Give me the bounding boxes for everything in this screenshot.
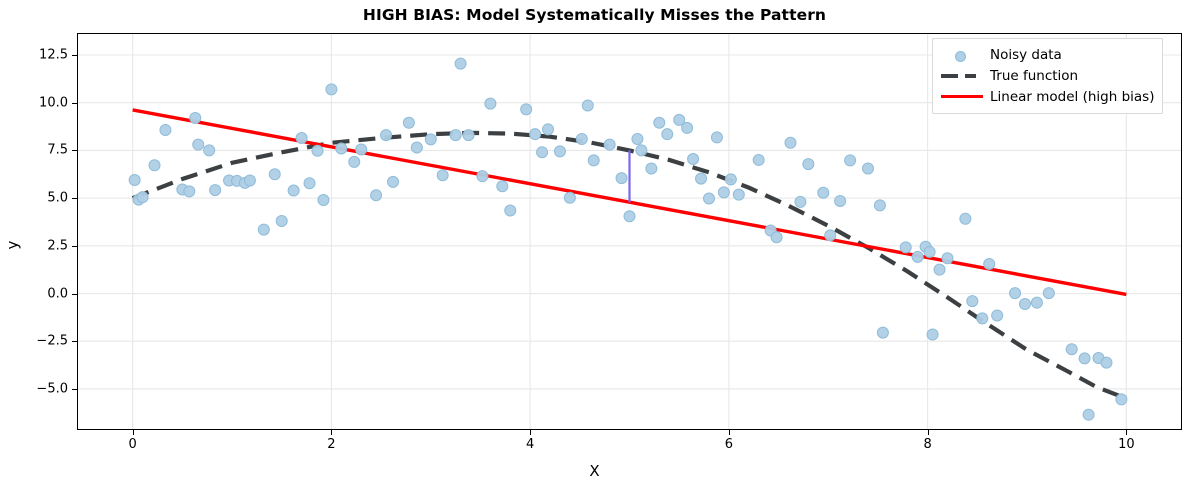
scatter-point bbox=[718, 187, 729, 198]
scatter-point bbox=[129, 174, 140, 185]
x-axis-label: X bbox=[0, 462, 1189, 480]
scatter-point bbox=[1079, 353, 1090, 364]
scatter-point bbox=[1010, 288, 1021, 299]
scatter-point bbox=[616, 173, 627, 184]
y-tick-label: −5.0 bbox=[36, 381, 68, 396]
y-tick-label: 2.5 bbox=[47, 238, 68, 253]
scatter-point bbox=[711, 132, 722, 143]
scatter-point bbox=[505, 205, 516, 216]
scatter-point bbox=[582, 100, 593, 111]
scatter-point bbox=[862, 163, 873, 174]
scatter-point bbox=[632, 133, 643, 144]
scatter-point bbox=[682, 122, 693, 133]
scatter-point bbox=[1116, 394, 1127, 405]
x-tick-mark bbox=[928, 430, 929, 435]
legend-label: Noisy data bbox=[990, 47, 1062, 63]
scatter-point bbox=[874, 200, 885, 211]
x-tick-label: 4 bbox=[526, 437, 534, 452]
scatter-point bbox=[696, 173, 707, 184]
scatter-point bbox=[835, 195, 846, 206]
x-tick-mark bbox=[133, 430, 134, 435]
scatter-point bbox=[326, 84, 337, 95]
scatter-point bbox=[977, 313, 988, 324]
y-tick-label: 10.0 bbox=[39, 95, 68, 110]
y-tick-label: 12.5 bbox=[39, 47, 68, 62]
scatter-point bbox=[733, 189, 744, 200]
scatter-point bbox=[795, 196, 806, 207]
legend-solid-line-icon bbox=[941, 90, 983, 104]
scatter-point bbox=[803, 159, 814, 170]
scatter-point bbox=[288, 185, 299, 196]
scatter-point bbox=[543, 124, 554, 135]
scatter-point bbox=[276, 216, 287, 227]
scatter-point bbox=[825, 230, 836, 241]
x-tick-label: 2 bbox=[327, 437, 335, 452]
legend: Noisy data True function Linear model (h… bbox=[932, 38, 1163, 114]
scatter-point bbox=[371, 190, 382, 201]
scatter-point bbox=[1101, 357, 1112, 368]
scatter-point bbox=[554, 146, 565, 157]
chart-title: HIGH BIAS: Model Systematically Misses t… bbox=[0, 6, 1189, 24]
scatter-point bbox=[450, 130, 461, 141]
scatter-point bbox=[688, 153, 699, 164]
scatter-point bbox=[485, 98, 496, 109]
scatter-point bbox=[425, 134, 436, 145]
scatter-point bbox=[160, 124, 171, 135]
legend-dashed-line-icon bbox=[941, 69, 983, 83]
scatter-point bbox=[296, 132, 307, 143]
legend-item-linear-model[interactable]: Linear model (high bias) bbox=[941, 86, 1154, 107]
figure: HIGH BIAS: Model Systematically Misses t… bbox=[0, 0, 1189, 490]
scatter-point bbox=[497, 181, 508, 192]
scatter-point bbox=[356, 144, 367, 155]
scatter-point bbox=[703, 193, 714, 204]
scatter-point bbox=[1066, 344, 1077, 355]
scatter-point bbox=[437, 170, 448, 181]
scatter-point bbox=[204, 145, 215, 156]
scatter-point bbox=[900, 242, 911, 253]
scatter-point bbox=[388, 176, 399, 187]
scatter-point bbox=[455, 58, 466, 69]
scatter-point bbox=[210, 185, 221, 196]
y-tick-label: 0.0 bbox=[47, 286, 68, 301]
x-tick-mark bbox=[530, 430, 531, 435]
legend-item-true-function[interactable]: True function bbox=[941, 65, 1154, 86]
x-tick-mark bbox=[331, 430, 332, 435]
y-tick-label: 5.0 bbox=[47, 191, 68, 206]
scatter-point bbox=[312, 145, 323, 156]
x-tick-label: 6 bbox=[725, 437, 733, 452]
scatter-point bbox=[530, 129, 541, 140]
x-tick-mark bbox=[1126, 430, 1127, 435]
scatter-point bbox=[924, 246, 935, 257]
scatter-point bbox=[934, 264, 945, 275]
scatter-point bbox=[318, 195, 329, 206]
scatter-point bbox=[662, 129, 673, 140]
scatter-point bbox=[753, 154, 764, 165]
scatter-point bbox=[137, 192, 148, 203]
scatter-point bbox=[624, 211, 635, 222]
scatter-point bbox=[771, 232, 782, 243]
scatter-point bbox=[912, 251, 923, 262]
scatter-point bbox=[942, 253, 953, 264]
legend-marker-circle-icon bbox=[941, 48, 983, 62]
scatter-point bbox=[411, 142, 422, 153]
scatter-point bbox=[244, 175, 255, 186]
scatter-point bbox=[149, 160, 160, 171]
scatter-point bbox=[984, 258, 995, 269]
scatter-point bbox=[403, 117, 414, 128]
x-tick-label: 10 bbox=[1118, 437, 1135, 452]
scatter-point bbox=[646, 163, 657, 174]
x-tick-mark bbox=[729, 430, 730, 435]
scatter-point bbox=[184, 186, 195, 197]
scatter-point bbox=[818, 187, 829, 198]
scatter-point bbox=[564, 192, 575, 203]
scatter-point bbox=[537, 147, 548, 158]
scatter-point bbox=[304, 178, 315, 189]
scatter-point bbox=[477, 171, 488, 182]
scatter-point bbox=[877, 327, 888, 338]
scatter-point bbox=[381, 130, 392, 141]
legend-label: True function bbox=[990, 68, 1078, 84]
scatter-point bbox=[521, 104, 532, 115]
scatter-point bbox=[654, 117, 665, 128]
scatter-point bbox=[1043, 288, 1054, 299]
scatter-point bbox=[785, 137, 796, 148]
scatter-point bbox=[269, 169, 280, 180]
legend-label: Linear model (high bias) bbox=[990, 89, 1154, 105]
y-tick-label: 7.5 bbox=[47, 143, 68, 158]
scatter-point bbox=[636, 145, 647, 156]
y-axis-label: y bbox=[3, 241, 21, 250]
scatter-point bbox=[927, 329, 938, 340]
scatter-point bbox=[992, 310, 1003, 321]
scatter-point bbox=[349, 156, 360, 167]
x-tick-label: 8 bbox=[923, 437, 931, 452]
scatter-point bbox=[336, 143, 347, 154]
legend-item-noisy-data[interactable]: Noisy data bbox=[941, 44, 1154, 65]
scatter-point bbox=[1031, 297, 1042, 308]
scatter-point bbox=[1019, 299, 1030, 310]
scatter-point bbox=[845, 155, 856, 166]
scatter-point bbox=[1083, 409, 1094, 420]
scatter-point bbox=[588, 155, 599, 166]
scatter-point bbox=[576, 133, 587, 144]
scatter-point bbox=[463, 130, 474, 141]
x-tick-label: 0 bbox=[129, 437, 137, 452]
scatter-point bbox=[193, 139, 204, 150]
scatter-point bbox=[190, 112, 201, 123]
scatter-point bbox=[960, 213, 971, 224]
scatter-point bbox=[604, 139, 615, 150]
scatter-point bbox=[725, 174, 736, 185]
y-tick-label: −2.5 bbox=[36, 334, 68, 349]
scatter-point bbox=[258, 224, 269, 235]
scatter-point bbox=[967, 296, 978, 307]
